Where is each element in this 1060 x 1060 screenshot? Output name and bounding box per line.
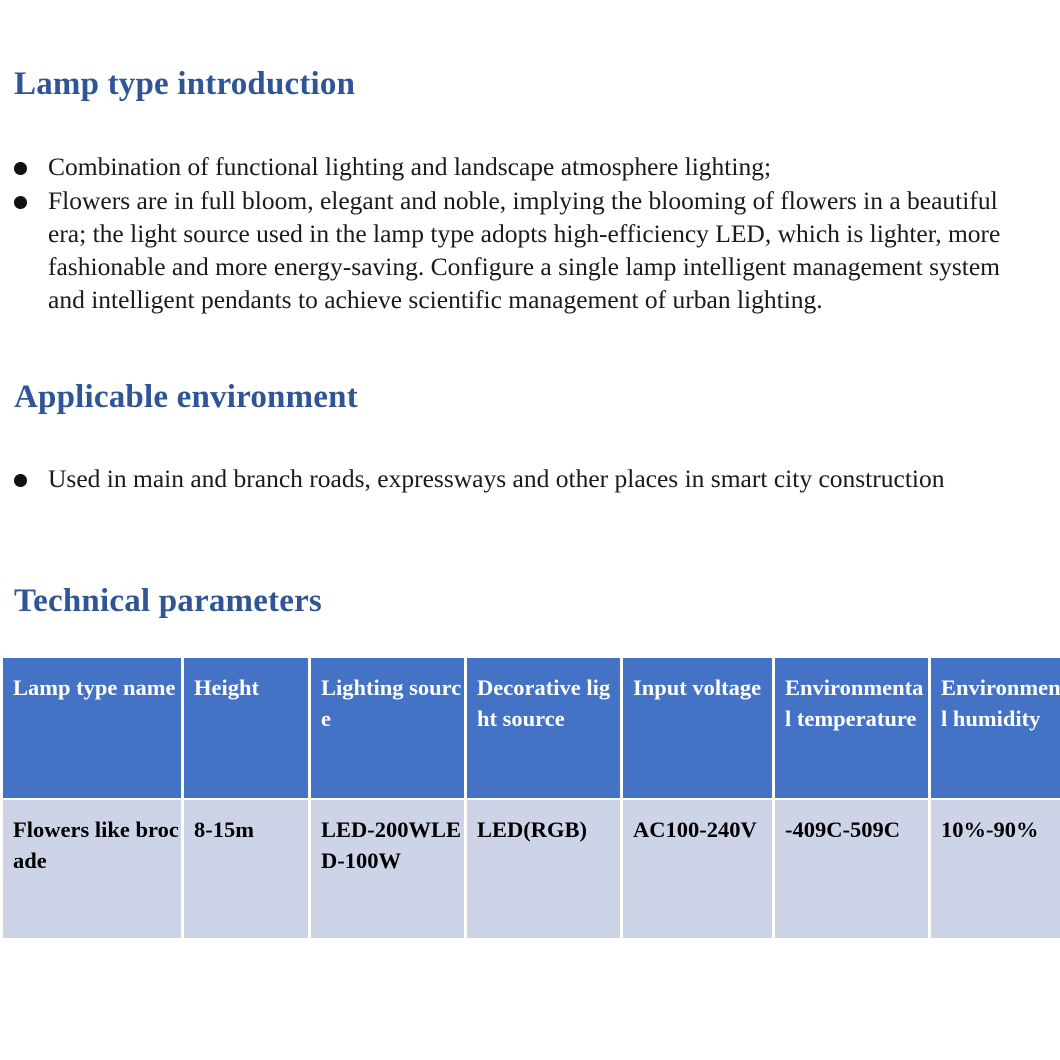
column-header-lamp-type-name: Lamp type name — [3, 658, 181, 798]
section-heading-lamp-type: Lamp type introduction — [14, 66, 355, 102]
column-header-lighting-source: Lighting source — [311, 658, 464, 798]
cell-environmental-temperature: -409C-509C — [775, 800, 928, 938]
section-heading-applicable-environment: Applicable environment — [14, 379, 358, 415]
document-page: Lamp type introduction Combination of fu… — [0, 0, 1060, 1060]
list-item: Used in main and branch roads, expresswa… — [0, 462, 1030, 495]
bullet-list-applicable-environment: Used in main and branch roads, expresswa… — [0, 462, 1030, 496]
technical-parameters-table-container: Lamp type name Height Lighting source De… — [0, 656, 1060, 940]
cell-lighting-source: LED-200WLED-100W — [311, 800, 464, 938]
cell-input-voltage: AC100-240V — [623, 800, 772, 938]
column-header-environmental-humidity: Environmental humidity — [931, 658, 1060, 798]
list-item-text: Combination of functional lighting and l… — [48, 152, 771, 181]
bullet-point-icon — [14, 162, 27, 175]
cell-decorative-light-source: LED(RGB) — [467, 800, 620, 938]
cell-lamp-type-name: Flowers like brocade — [3, 800, 181, 938]
column-header-environmental-temperature: Environmental temperature — [775, 658, 928, 798]
bullet-point-icon — [14, 474, 27, 487]
column-header-input-voltage: Input voltage — [623, 658, 772, 798]
cell-environmental-humidity: 10%-90% — [931, 800, 1060, 938]
cell-height: 8-15m — [184, 800, 308, 938]
bullet-point-icon — [14, 196, 27, 209]
list-item: Flowers are in full bloom, elegant and n… — [0, 184, 1020, 316]
list-item-text: Flowers are in full bloom, elegant and n… — [48, 186, 1000, 314]
section-heading-technical-parameters: Technical parameters — [14, 583, 322, 619]
bullet-list-lamp-type: Combination of functional lighting and l… — [0, 150, 1020, 317]
column-header-decorative-light-source: Decorative light source — [467, 658, 620, 798]
list-item-text: Used in main and branch roads, expresswa… — [48, 464, 945, 493]
list-item: Combination of functional lighting and l… — [0, 150, 1020, 183]
table-header-row: Lamp type name Height Lighting source De… — [3, 658, 1060, 798]
column-header-height: Height — [184, 658, 308, 798]
technical-parameters-table: Lamp type name Height Lighting source De… — [0, 656, 1060, 940]
table-row: Flowers like brocade 8-15m LED-200WLED-1… — [3, 800, 1060, 938]
